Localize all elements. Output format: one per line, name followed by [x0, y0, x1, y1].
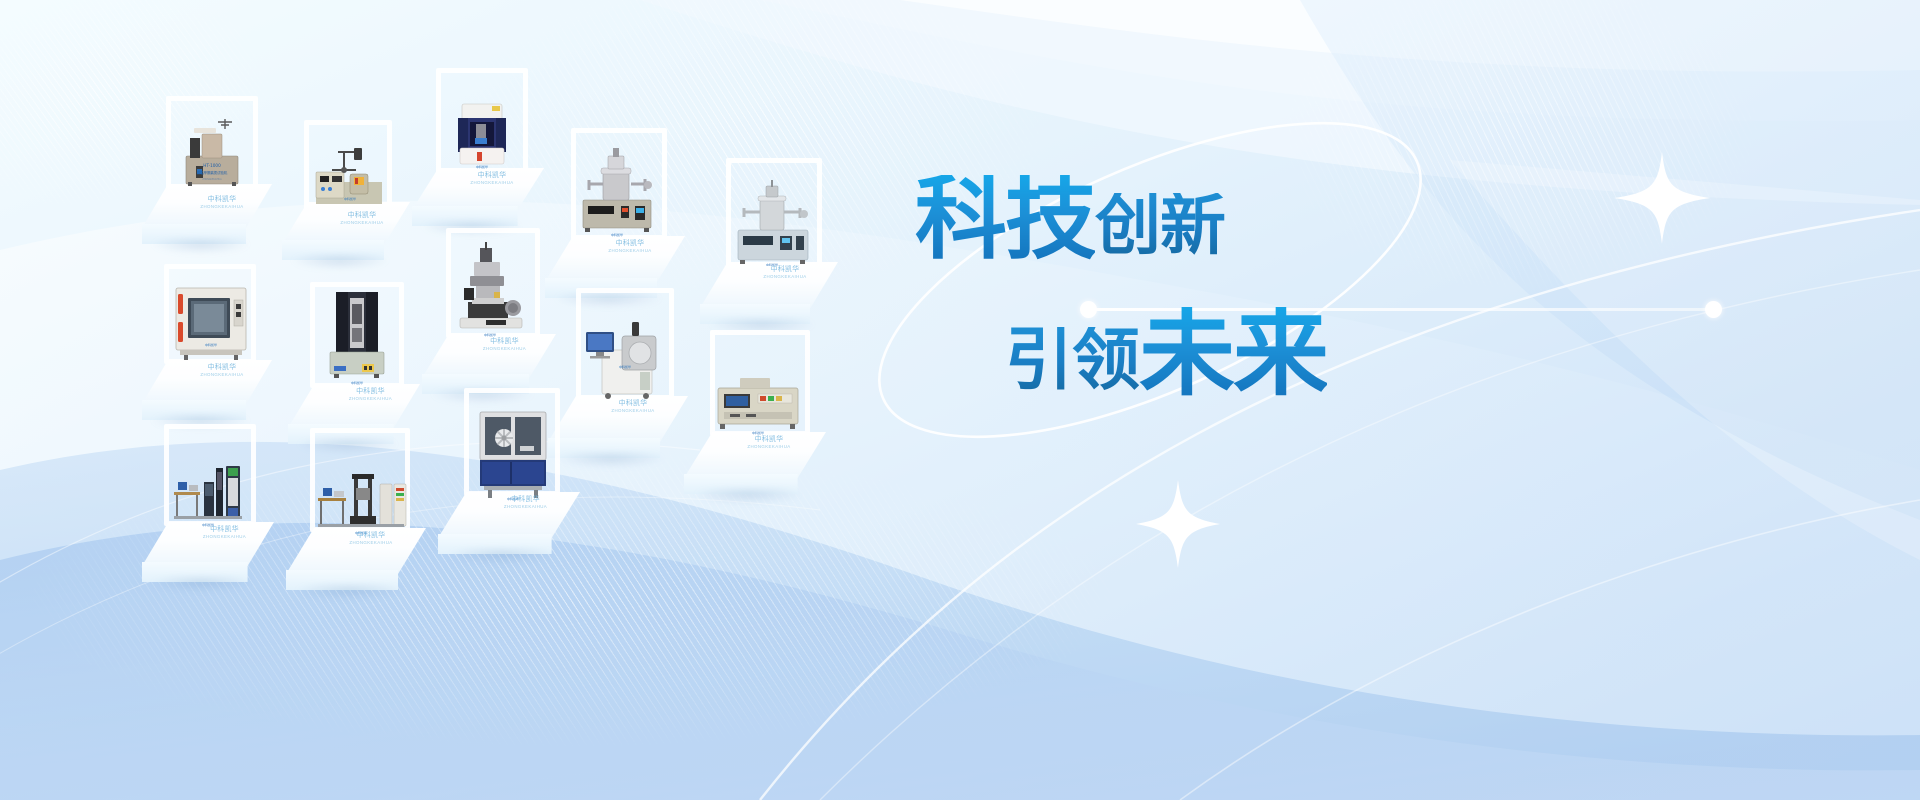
headline-line-2: 引领 未来 — [1005, 307, 1425, 399]
product-watermark: 中科凯华 ZHONGKEKAIHUA — [611, 400, 654, 413]
product-watermark: 中科凯华 ZHONGKEKAIHUA — [608, 240, 651, 253]
svg-text:中科凯华: 中科凯华 — [484, 332, 496, 337]
product-image: 中科凯华 — [575, 144, 661, 238]
product-image: 中科凯华 — [316, 288, 398, 388]
hero-banner: HT-1000 高温摩擦磨损试验机 ZHONGKEKAIHUA 中科凯华 ZHO… — [0, 0, 1920, 800]
headline-line2-lead: 引领 — [1005, 327, 1139, 399]
product-image: 中科凯华 — [470, 402, 558, 502]
product-card[interactable]: 中科凯华 中科凯华 ZHONGKEKAIHUA — [684, 330, 854, 490]
headline-line-1: 科技 创新 — [915, 175, 1425, 263]
product-watermark: 中科凯华 ZHONGKEKAIHUA — [483, 338, 526, 351]
svg-text:中科凯华: 中科凯华 — [351, 380, 363, 385]
product-image: 中科凯华 — [170, 278, 252, 364]
product-image: 中科凯华 — [310, 142, 390, 218]
product-watermark: 中科凯华 ZHONGKEKAIHUA — [747, 436, 790, 449]
product-image: 中科凯华 — [450, 240, 536, 340]
product-card[interactable]: 中科凯华 中科凯华 ZHONGKEKAIHUA — [438, 388, 613, 553]
svg-text:HT-1000: HT-1000 — [203, 163, 221, 168]
product-watermark: 中科凯华 ZHONGKEKAIHUA — [504, 496, 547, 509]
product-watermark: 中科凯华 ZHONGKEKAIHUA — [349, 388, 392, 401]
product-image: 中科凯华 — [446, 96, 522, 172]
product-card[interactable]: HT-1000 高温摩擦磨损试验机 ZHONGKEKAIHUA 中科凯华 ZHO… — [142, 96, 302, 246]
product-watermark: 中科凯华 ZHONGKEKAIHUA — [200, 364, 243, 377]
product-image: 中科凯华 — [712, 360, 808, 438]
product-image: 中科凯华 — [730, 178, 816, 266]
product-card[interactable]: 中科凯华 中科凯华 ZHONGKEKAIHUA — [142, 424, 307, 579]
product-card[interactable]: 中科凯华 中科凯华 ZHONGKEKAIHUA — [286, 428, 456, 588]
headline-line2-tail: 未来 — [1139, 307, 1327, 399]
product-watermark: 中科凯华 ZHONGKEKAIHUA — [203, 526, 246, 539]
product-image: 中科凯华 — [168, 452, 254, 530]
sparkle-star-bottom-icon — [1134, 478, 1222, 570]
svg-text:中科凯华: 中科凯华 — [344, 196, 356, 201]
product-watermark: 中科凯华 ZHONGKEKAIHUA — [200, 196, 243, 209]
product-watermark: 中科凯华 ZHONGKEKAIHUA — [763, 266, 806, 279]
product-watermark: 中科凯华 ZHONGKEKAIHUA — [349, 532, 392, 545]
headline-line1-lead: 科技 — [915, 175, 1095, 263]
svg-text:中科凯华: 中科凯华 — [205, 342, 217, 347]
svg-text:中科凯华: 中科凯华 — [619, 364, 631, 369]
headline-block: 科技 创新 引领 未来 — [905, 175, 1425, 399]
product-card[interactable]: 中科凯华 中科凯华 ZHONGKEKAIHUA — [142, 264, 302, 414]
product-watermark: 中科凯华 ZHONGKEKAIHUA — [340, 212, 383, 225]
svg-text:中科凯华: 中科凯华 — [752, 430, 764, 435]
svg-text:中科凯华: 中科凯华 — [611, 232, 623, 237]
connector-dot-right — [1705, 301, 1722, 318]
svg-text:中科凯华: 中科凯华 — [476, 164, 488, 169]
svg-text:高温摩擦磨损试验机: 高温摩擦磨损试验机 — [197, 170, 228, 175]
product-image: 中科凯华 — [314, 458, 408, 536]
svg-text:ZHONGKEKAIHUA: ZHONGKEKAIHUA — [202, 178, 222, 181]
headline-line1-tail: 创新 — [1095, 193, 1225, 263]
product-image: HT-1000 高温摩擦磨损试验机 ZHONGKEKAIHUA — [174, 114, 252, 196]
product-watermark: 中科凯华 ZHONGKEKAIHUA — [470, 172, 513, 185]
sparkle-star-top-right-icon — [1612, 150, 1712, 246]
